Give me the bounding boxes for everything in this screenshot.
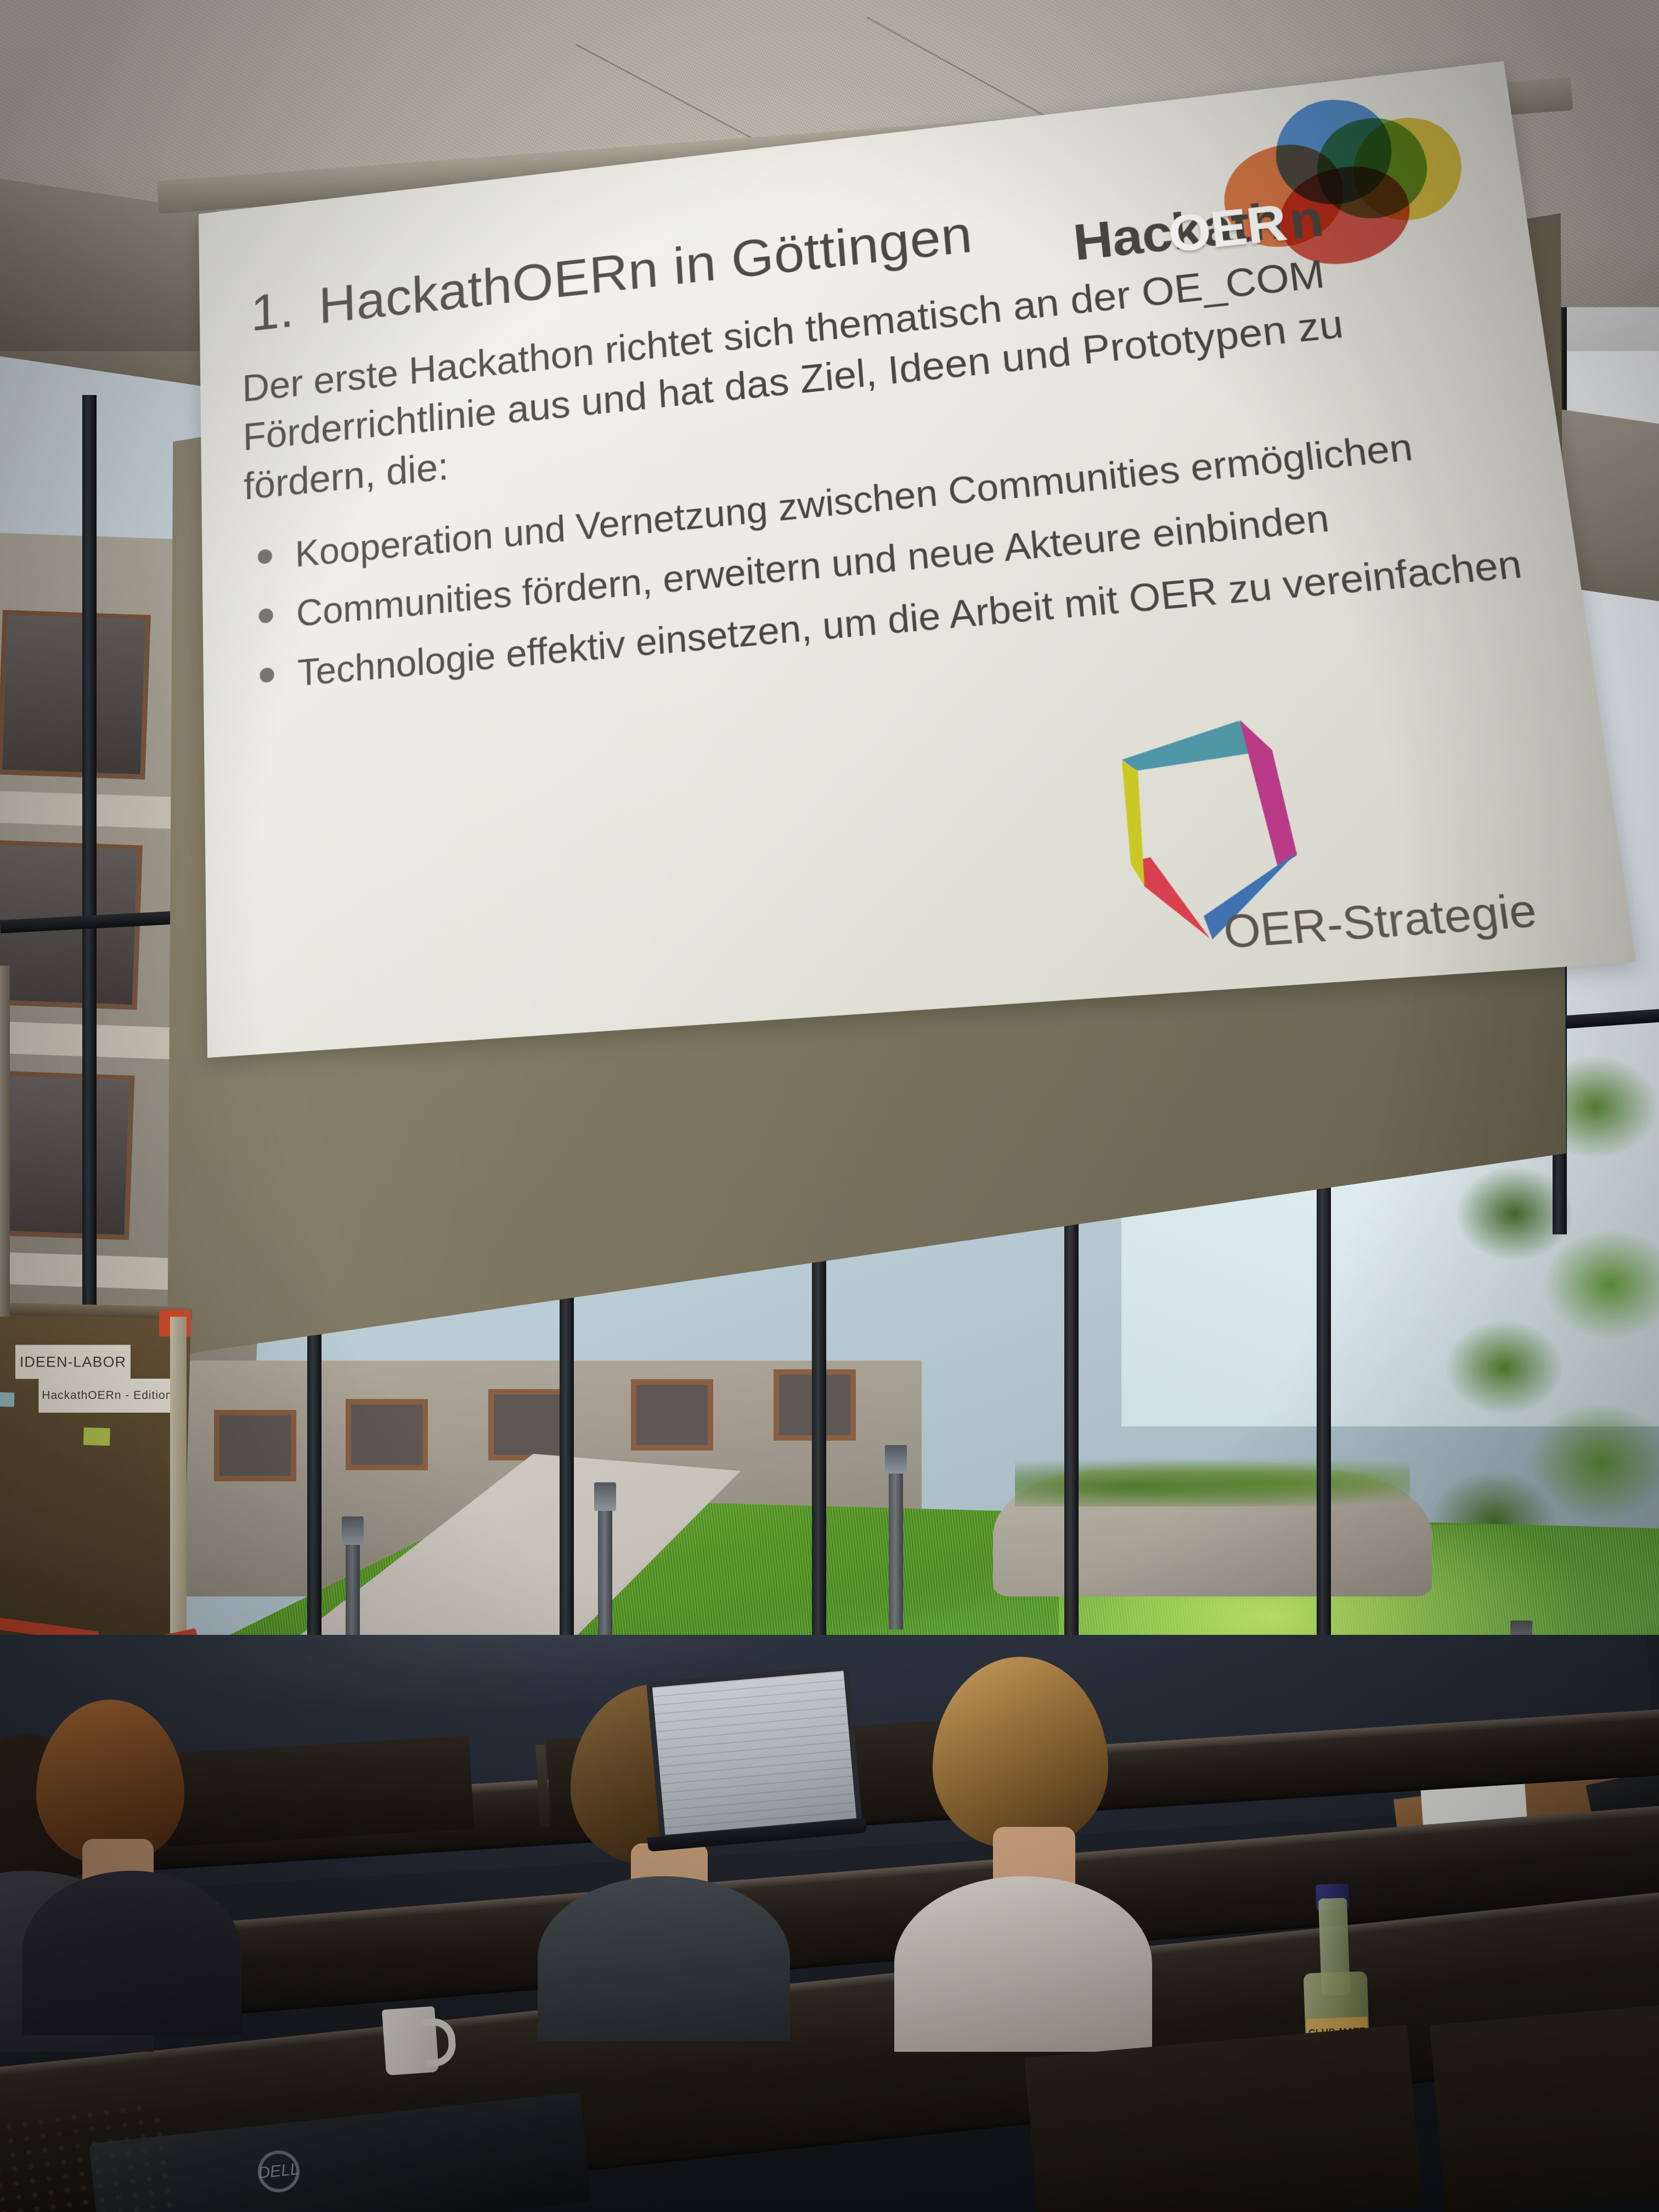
bollard-light	[889, 1470, 903, 1629]
seat-back-foreground	[1430, 2002, 1659, 2212]
photo-scene: Hackath OER n 1.HackathOERn in Göttingen…	[0, 0, 1659, 2212]
coffee-mug	[382, 2006, 439, 2075]
projection-screen-assembly: Hackath OER n 1.HackathOERn in Göttingen…	[0, 0, 1659, 1426]
flipchart-pole	[0, 966, 10, 1317]
pinboard-sign-top: IDEEN-LABOR	[15, 1345, 131, 1379]
pinboard-frame-right	[170, 1317, 187, 1651]
presentation-slide: Hackath OER n 1.HackathOERn in Göttingen…	[199, 61, 1637, 1058]
lecture-hall-seating: DELL CLUB-MATE CLUB-MATE	[0, 1635, 1659, 2212]
triangle-red	[1133, 854, 1210, 943]
pinboard-note-green	[83, 1427, 110, 1446]
audience-shoulder	[538, 1876, 790, 2041]
pinboard-note-blue	[0, 1392, 14, 1407]
logo-word-n: n	[1286, 189, 1327, 251]
pinboard: IDEEN-LABOR HackathOERn - Edition	[0, 1308, 191, 1664]
audience-shoulder	[22, 1871, 241, 2035]
audience-shoulder	[894, 1876, 1152, 2052]
pinboard-sign-bottom: HackathOERn - Edition	[38, 1379, 176, 1413]
slide-title-number: 1.	[250, 281, 295, 342]
triangle-magenta	[1239, 716, 1298, 870]
seat-back	[162, 1736, 474, 1847]
projected-slide-area: Hackath OER n 1.HackathOERn in Göttingen…	[165, 208, 1569, 1404]
circular-planter	[993, 1470, 1432, 1596]
open-laptop-screen	[646, 1664, 862, 1841]
seat-back-foreground	[1024, 2024, 1423, 2212]
oer-strategie-logo: OER-Strategie	[1105, 673, 1532, 969]
